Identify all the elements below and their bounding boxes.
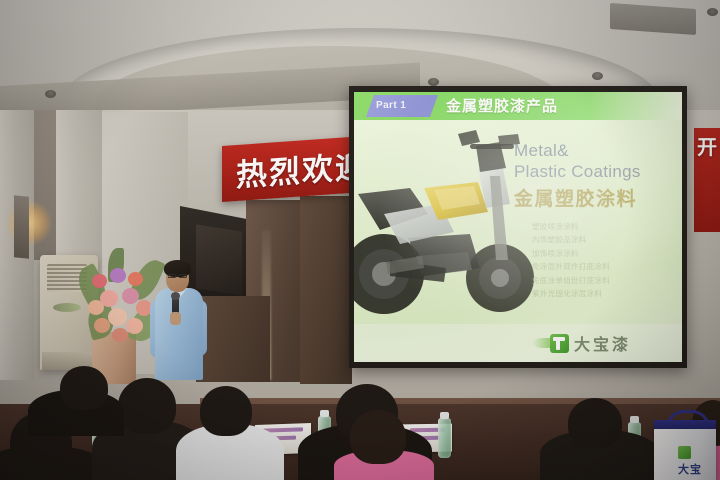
list-item: 内饰塑胶品涂料	[532, 233, 672, 246]
audience-head	[118, 378, 176, 434]
slide-brand-logo: 大宝漆	[550, 330, 631, 356]
downlight-icon	[592, 72, 603, 80]
wood-wall-panel-2	[300, 196, 352, 384]
downlight-icon	[45, 90, 56, 98]
ac-logo	[53, 303, 81, 312]
flower-arrangement	[78, 248, 160, 344]
motorcycle-image	[354, 128, 540, 323]
bottle-cap	[630, 416, 639, 423]
podium	[196, 296, 270, 382]
microphone-head	[171, 292, 180, 300]
downlight-icon	[428, 78, 439, 86]
slide-brand-bar	[354, 324, 682, 362]
welcome-banner-right-text: 开	[697, 136, 719, 158]
slide-title-chinese: 金属塑胶涂料	[514, 184, 674, 211]
gift-bag-brand-text: 大宝	[678, 461, 714, 477]
gift-bag-brand-mark-icon	[678, 446, 691, 459]
wall-monitor-screen	[196, 224, 242, 295]
slide-title-en-line1: Metal&	[514, 140, 674, 161]
list-item: 免底涂单组份打底涂料	[532, 274, 672, 287]
slide-bullet-list: 塑胶喷涂涂料 内饰塑胶品涂料 加饰喷涂涂料 免涂层外观件打底涂料 免底涂单组份打…	[532, 220, 672, 300]
list-item: 加饰喷涂涂料	[532, 247, 672, 260]
audience-head	[60, 366, 108, 410]
wall-sconce	[14, 195, 29, 259]
audience-head	[350, 410, 406, 464]
water-bottle	[438, 418, 451, 458]
brand-mark-icon	[550, 334, 569, 353]
bottle-cap	[440, 412, 449, 419]
list-item: 紫外光固化涂层涂料	[532, 287, 672, 300]
slide-title-en-line2: Plastic Coatings	[514, 161, 674, 182]
bottle-cap	[320, 410, 329, 417]
brand-name-text: 大宝漆	[574, 331, 631, 355]
audience-head	[200, 386, 252, 436]
slide-header-title: 金属塑胶漆产品	[446, 96, 626, 117]
list-item: 塑胶喷涂涂料	[532, 220, 672, 233]
speaker-torso	[155, 288, 203, 380]
speaker-hand	[170, 312, 181, 325]
gift-bag-top-band	[654, 420, 716, 429]
slide-title-english: Metal& Plastic Coatings	[514, 140, 674, 182]
slide-part-label: Part 1	[376, 97, 436, 115]
audience-head	[568, 398, 622, 448]
eyeglasses-icon	[168, 274, 187, 278]
conference-photo-scene: 热烈欢迎 开 Part 1 金属塑胶漆产品	[0, 0, 720, 480]
list-item: 免涂层外观件打底涂料	[532, 260, 672, 273]
downlight-icon	[707, 8, 718, 16]
wall-sconce-glow	[6, 200, 52, 246]
gift-bag-logo: 大宝	[678, 446, 714, 476]
projection-screen: Part 1 金属塑胶漆产品	[354, 92, 682, 362]
